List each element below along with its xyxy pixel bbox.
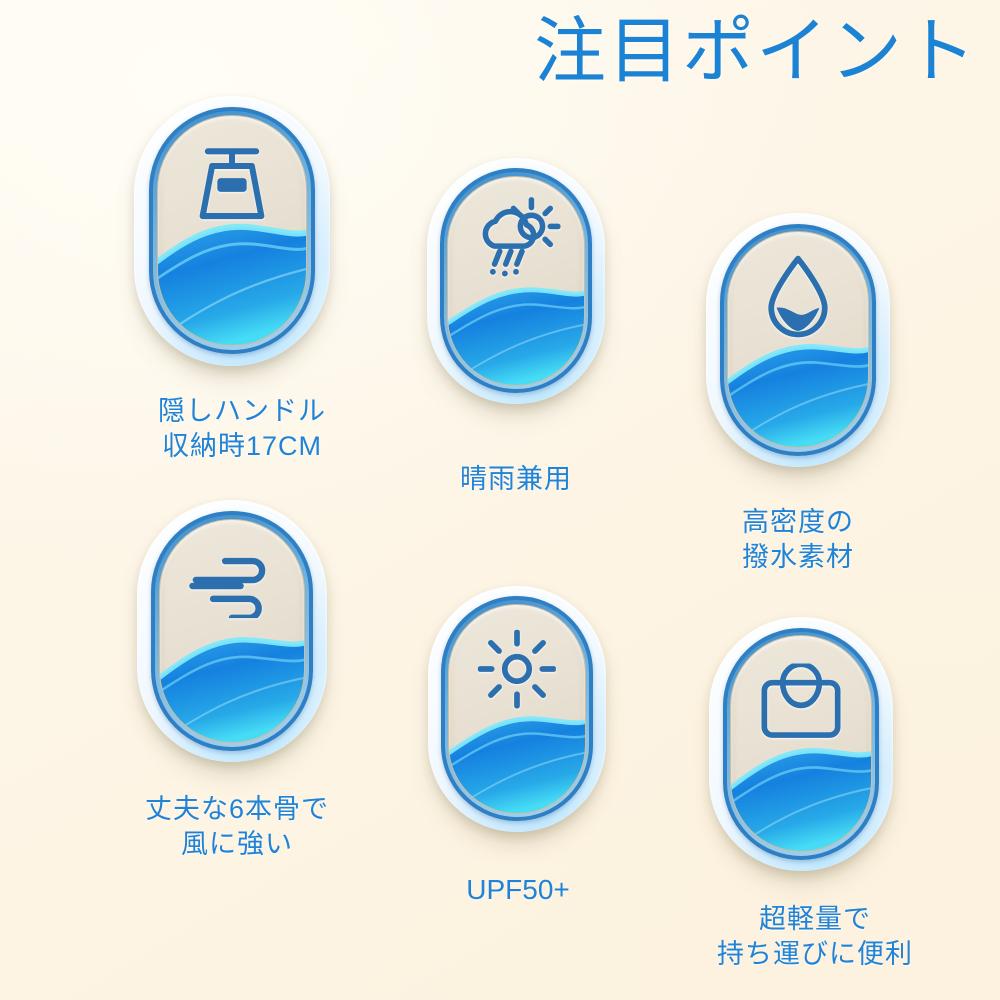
caption-water-repellent: 高密度の 撥水素材 xyxy=(690,505,906,575)
water-fill xyxy=(448,707,585,814)
page-title: 注目ポイント xyxy=(534,14,978,92)
water-fill xyxy=(730,737,872,852)
card-panel xyxy=(159,519,305,743)
water-droplet-icon xyxy=(766,254,830,340)
card-panel xyxy=(157,115,308,346)
feature-card-all-weather xyxy=(427,158,605,404)
water-fill xyxy=(159,626,305,743)
sun-icon xyxy=(478,630,556,708)
card-panel xyxy=(730,635,872,852)
card-panel xyxy=(447,176,584,386)
water-fill xyxy=(157,215,308,347)
card-panel xyxy=(727,231,869,448)
card-panel xyxy=(448,604,585,814)
sun-rain-cloud-icon xyxy=(471,197,560,286)
tote-bag-icon xyxy=(759,663,843,738)
feature-card-hidden-handle xyxy=(134,96,330,366)
water-fill xyxy=(727,333,869,448)
caption-all-weather: 晴雨兼用 xyxy=(406,462,626,497)
caption-upf-protection: UPF50+ xyxy=(418,872,618,908)
feature-highlight-poster: 注目ポイント xyxy=(0,0,1000,1000)
caption-hidden-handle: 隠しハンドル 収納時17CM xyxy=(122,394,362,464)
caption-wind-resistant: 丈夫な6本骨で 風に強い xyxy=(112,792,362,862)
caption-lightweight-portable: 超軽量で 持ち運びに便利 xyxy=(690,902,940,972)
feature-card-wind-resistant xyxy=(137,500,327,762)
water-fill xyxy=(447,279,584,386)
feature-card-lightweight-portable xyxy=(709,617,893,871)
wind-icon xyxy=(187,555,276,619)
feature-card-upf-protection xyxy=(428,586,606,832)
feature-card-water-repellent xyxy=(706,213,890,467)
